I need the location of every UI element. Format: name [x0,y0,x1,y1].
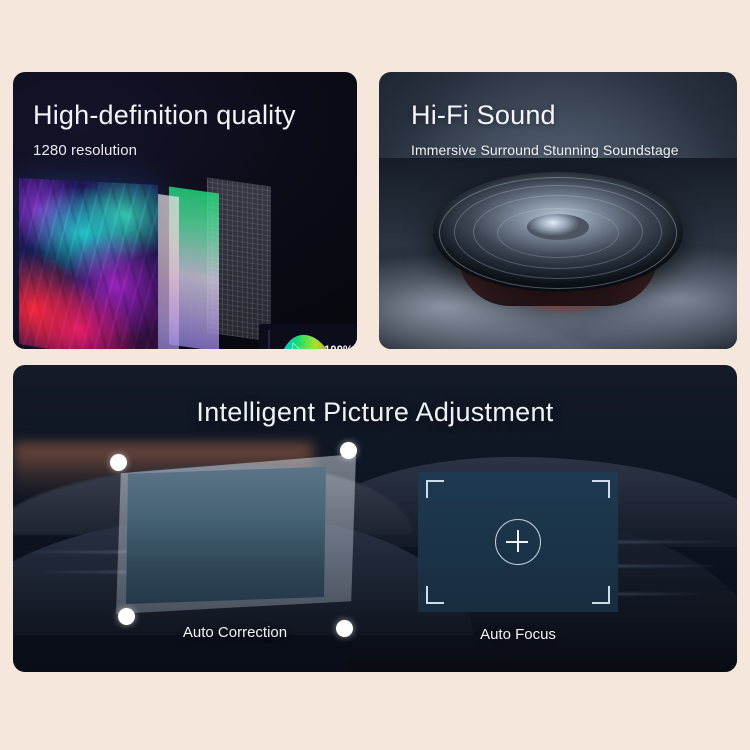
feature-auto-focus[interactable]: Auto Focus [418,472,618,644]
hd-panel-title: High-definition quality [33,100,296,131]
feature-auto-correction[interactable]: Auto Correction [100,442,370,642]
focus-crosshair-icon [495,519,541,565]
keystone-inner-screen [126,464,326,604]
audio-panel-title: Hi-Fi Sound [411,100,556,131]
keystone-handle-bottom-left[interactable] [118,608,135,625]
color-screen-layer [19,178,158,349]
focus-corner-bottom-left [426,586,444,604]
keystone-handle-top-left[interactable] [110,454,127,471]
panel-hifi-sound: Hi-Fi Sound Immersive Surround Stunning … [379,72,737,349]
ipa-panel-title: Intelligent Picture Adjustment [13,397,737,428]
auto-correction-label: Auto Correction [100,624,370,641]
promo-feature-board: 100% High-definition quality 1280 resolu… [0,0,750,750]
focus-corner-bottom-right [592,586,610,604]
hd-panel-subtitle: 1280 resolution [33,142,137,159]
panel-high-definition: 100% High-definition quality 1280 resolu… [13,72,357,349]
focus-corner-top-right [592,480,610,498]
gamut-percentage-label: 100% [324,344,353,349]
keystone-handle-top-right[interactable] [340,442,357,459]
display-layer-stack [19,172,357,349]
cie-chromaticity-diagram: 100% [259,324,357,349]
focus-corner-top-left [426,480,444,498]
audio-panel-subtitle: Immersive Surround Stunning Soundstage [411,142,679,158]
speaker-driver-photo [379,158,737,349]
speaker-dome [527,214,589,240]
focus-frame [418,472,618,612]
auto-focus-label: Auto Focus [418,626,618,643]
